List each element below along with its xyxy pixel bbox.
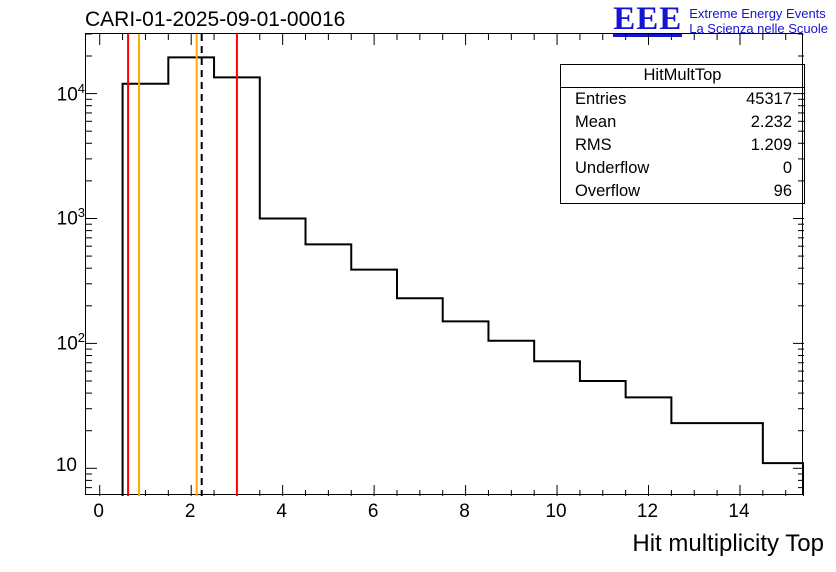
- x-tick-label: 8: [445, 501, 485, 523]
- histogram-outline: [123, 57, 804, 496]
- y-tick-label: 102: [17, 330, 85, 355]
- x-tick-label: 10: [536, 501, 576, 523]
- x-tick-label: 14: [719, 501, 759, 523]
- x-tick-label: 12: [628, 501, 668, 523]
- x-tick-label: 6: [353, 501, 393, 523]
- y-tick-label: 103: [17, 205, 85, 230]
- eee-logo-text: Extreme Energy Events La Scienza nelle S…: [689, 4, 828, 36]
- x-axis-title: Hit multiplicity Top: [632, 530, 824, 558]
- x-tick-label: 0: [79, 501, 119, 523]
- x-tick-label: 4: [262, 501, 302, 523]
- eee-logo-line1: Extreme Energy Events: [689, 6, 828, 21]
- y-tick-label: 104: [17, 81, 85, 106]
- x-tick-label: 2: [170, 501, 210, 523]
- page-title: CARI-01-2025-09-01-00016: [85, 8, 345, 32]
- plot-frame: [85, 33, 803, 495]
- chart-page: CARI-01-2025-09-01-00016 EEE Extreme Ene…: [0, 0, 836, 572]
- histogram-plot: [86, 34, 804, 496]
- y-tick-label: 10: [17, 455, 77, 477]
